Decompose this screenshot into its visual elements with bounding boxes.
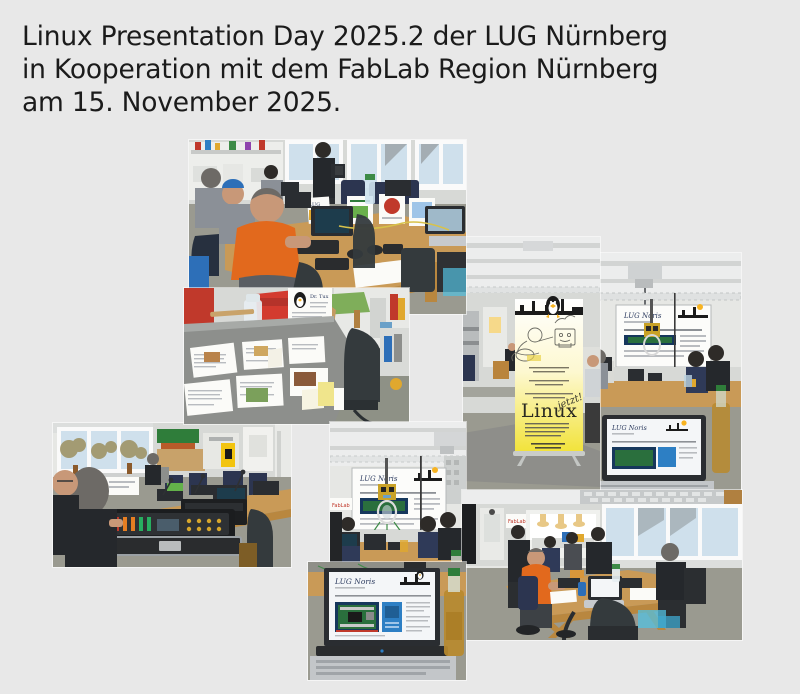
slide-page: Linux Presentation Day 2025.2 der LUG Nü… — [0, 0, 800, 694]
photo-8-illustration: FabLab — [462, 490, 742, 640]
photo-7-illustration: LUG Noris — [308, 562, 466, 680]
svg-text:FabLab: FabLab — [332, 503, 350, 509]
svg-text:LUG Noris: LUG Noris — [359, 475, 398, 483]
photo-audio-mixer-workbench — [53, 423, 291, 567]
svg-text:LUG Noris: LUG Noris — [611, 424, 647, 432]
svg-text:FabLab: FabLab — [508, 519, 526, 525]
photo-4-illustration: LUG Noris — [588, 253, 741, 510]
photo-projector-presentation-room: LUG Noris — [588, 253, 741, 510]
photo-linux-jetzt-rollup-banner: Linux jetzt! — [463, 237, 600, 510]
photo-info-table-flyers: Dr. Tux — [184, 288, 409, 424]
svg-text:LUG Noris: LUG Noris — [623, 312, 662, 320]
svg-text:Dr. Tux: Dr. Tux — [310, 294, 329, 300]
photo-fablab-main-hall-group: FabLab — [462, 490, 742, 640]
photo-5-illustration — [53, 423, 291, 567]
photo-laptop-lug-noris-slide: LUG Noris — [308, 562, 466, 680]
svg-text:LUG Noris: LUG Noris — [334, 577, 375, 586]
photo-collage: LUG Noris — [0, 0, 800, 694]
photo-2-illustration: Dr. Tux — [184, 288, 409, 424]
photo-3-illustration: Linux jetzt! — [463, 237, 600, 510]
